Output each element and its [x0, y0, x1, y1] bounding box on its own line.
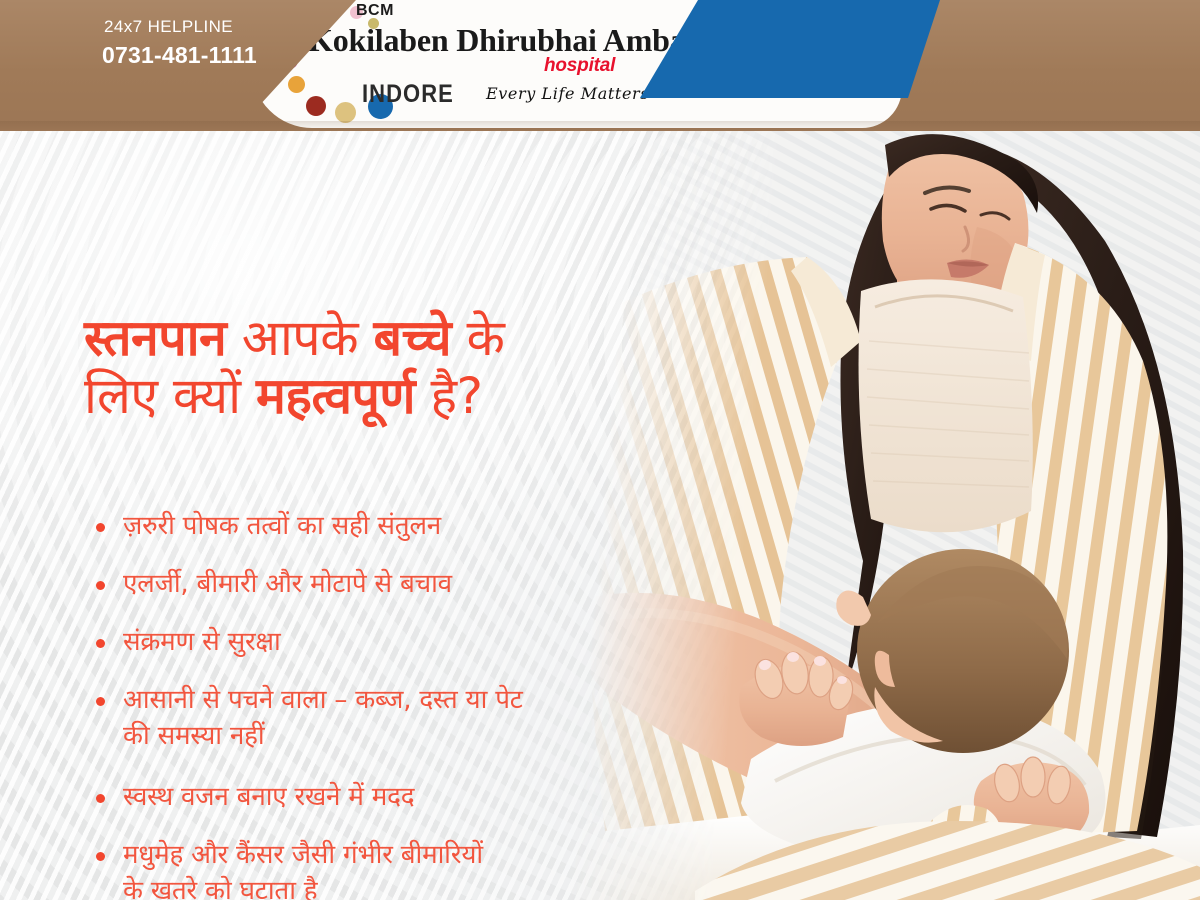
header-band: BCM Kokilaben Dhirubhai Ambani hospital …	[0, 0, 1200, 131]
list-item: स्वस्थ वजन बनाए रखने में मदद	[96, 780, 676, 816]
list-item-label: संक्रमण से सुरक्षा	[123, 625, 281, 661]
list-item-label: स्वस्थ वजन बनाए रखने में मदद	[123, 780, 414, 816]
headline-word-ke: के	[451, 309, 504, 367]
logo-tagline: Every Life Matters	[486, 84, 649, 103]
page-title: स्तनपान आपके बच्चे के लिए क्यों महत्वपूर…	[84, 309, 724, 425]
logo-city-label: INDORE	[362, 80, 454, 109]
bullet-dot-icon	[96, 639, 105, 648]
logo-hospital-name: Kokilaben Dhirubhai Ambani	[308, 22, 712, 59]
headline-word-mahatvapurn: महत्वपूर्ण	[256, 367, 415, 425]
logo-ring-dot-6	[288, 76, 305, 93]
list-item: एलर्जी, बीमारी और मोटापे से बचाव	[96, 567, 676, 603]
headline-line-2: लिए क्यों महत्वपूर्ण है?	[84, 367, 724, 425]
list-item-label: आसानी से पचने वाला – कब्ज, दस्त या पेट	[123, 683, 523, 719]
bullet-dot-icon	[96, 794, 105, 803]
list-item-label-continued: की समस्या नहीं	[123, 719, 523, 755]
headline-word-stanpan: स्तनपान	[84, 309, 226, 367]
list-item-label: एलर्जी, बीमारी और मोटापे से बचाव	[123, 567, 452, 603]
helpline-label: 24x7 HELPLINE	[104, 17, 233, 37]
poster-body: स्तनपान आपके बच्चे के लिए क्यों महत्वपूर…	[0, 131, 1200, 900]
list-item-text-block: आसानी से पचने वाला – कब्ज, दस्त या पेट क…	[123, 683, 523, 755]
headline-word-liye-kyon: लिए क्यों	[84, 367, 256, 425]
logo-ring-dot-8	[335, 102, 356, 123]
benefits-list: ज़रुरी पोषक तत्वों का सही संतुलन एलर्जी,…	[96, 509, 676, 900]
list-item: आसानी से पचने वाला – कब्ज, दस्त या पेट क…	[96, 683, 676, 755]
list-item: मधुमेह और कैंसर जैसी गंभीर बीमारियों के …	[96, 838, 676, 900]
bullet-dot-icon	[96, 697, 105, 706]
list-item-label-continued: के खतरे को घटाता है	[123, 874, 483, 900]
logo-hospital-word: hospital	[544, 55, 615, 77]
list-item: ज़रुरी पोषक तत्वों का सही संतुलन	[96, 509, 676, 545]
list-item-label: ज़रुरी पोषक तत्वों का सही संतुलन	[123, 509, 441, 545]
list-item-label: मधुमेह और कैंसर जैसी गंभीर बीमारियों	[123, 838, 483, 874]
logo-bcm-label: BCM	[356, 2, 394, 20]
list-item-text-block: मधुमेह और कैंसर जैसी गंभीर बीमारियों के …	[123, 838, 483, 900]
headline-word-hai: है?	[415, 367, 482, 425]
list-item: संक्रमण से सुरक्षा	[96, 625, 676, 661]
breastfeeding-awareness-poster: स्तनपान आपके बच्चे के लिए क्यों महत्वपूर…	[0, 0, 1200, 900]
bullet-dot-icon	[96, 581, 105, 590]
headline-word-bachche: बच्चे	[374, 309, 452, 367]
headline-word-aapke: आपके	[226, 309, 373, 367]
bullet-dot-icon	[96, 523, 105, 532]
helpline-phone-number[interactable]: 0731-481-1111	[102, 42, 257, 69]
bullet-dot-icon	[96, 852, 105, 861]
headline-line-1: स्तनपान आपके बच्चे के	[84, 309, 724, 367]
logo-ring-dot-7	[306, 96, 326, 116]
